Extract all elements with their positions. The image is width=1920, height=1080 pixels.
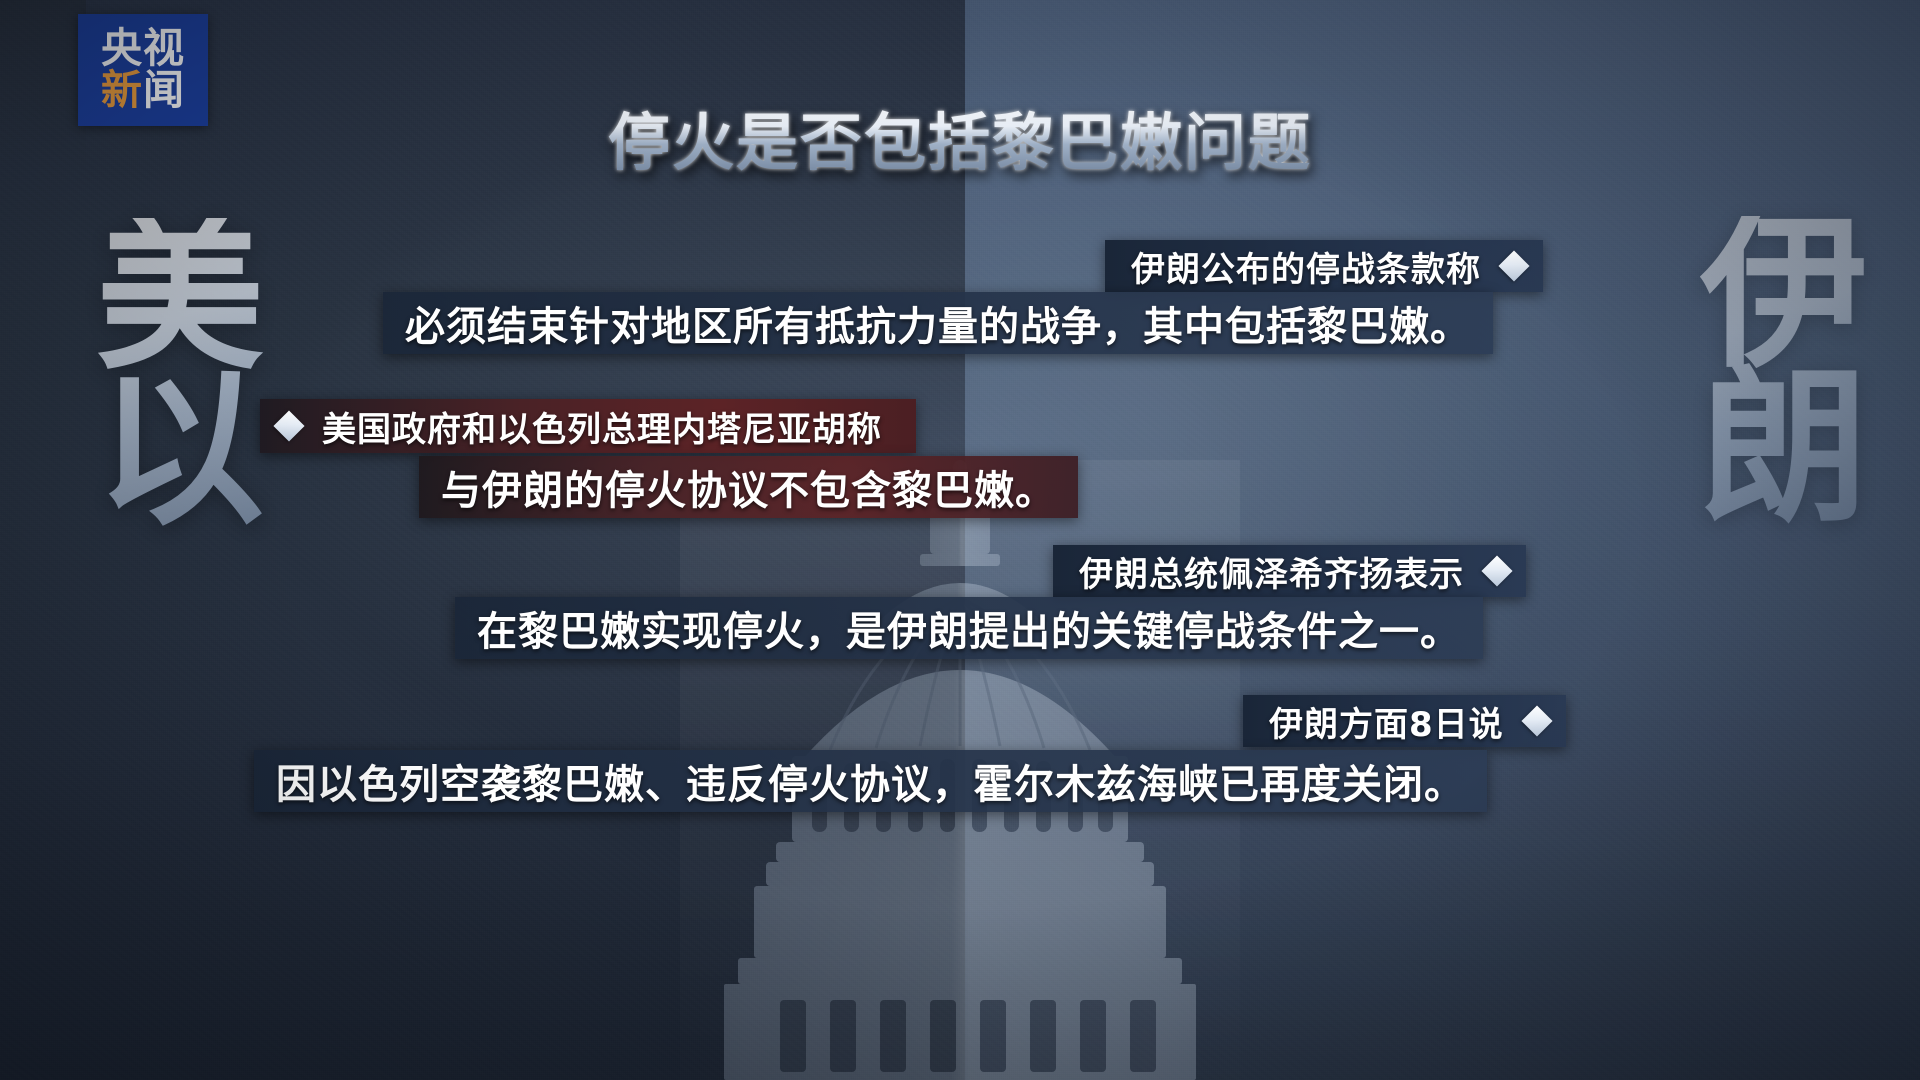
statement-text-block-1: 必须结束针对地区所有抵抗力量的战争，其中包括黎巴嫩。 <box>405 294 1471 352</box>
statement-block-4: 因以色列空袭黎巴嫩、违反停火协议，霍尔木兹海峡已再度关闭。 <box>254 750 1487 812</box>
source-label-block-1: 伊朗公布的停战条款称 <box>1105 240 1543 292</box>
logo-line-yangshi: 央视 <box>101 28 185 70</box>
source-text-block-3: 伊朗总统佩泽希齐扬表示 <box>1079 547 1464 596</box>
statement-text-block-4: 因以色列空袭黎巴嫩、违反停火协议，霍尔木兹海峡已再度关闭。 <box>276 752 1465 810</box>
diamond-bullet-icon <box>1498 250 1529 281</box>
source-text-block-2: 美国政府和以色列总理内塔尼亚胡称 <box>322 402 882 451</box>
source-label-block-4: 伊朗方面8日说 <box>1243 695 1566 747</box>
watermark-iran: 伊 朗 <box>1700 216 1868 525</box>
source-label-block-3: 伊朗总统佩泽希齐扬表示 <box>1053 545 1526 597</box>
statement-block-1: 必须结束针对地区所有抵抗力量的战争，其中包括黎巴嫩。 <box>383 292 1493 354</box>
watermark-us-israel: 美 以 <box>96 218 264 527</box>
news-graphic-stage: 央视 新闻 停火是否包括黎巴嫩问题 停火是否包括黎巴嫩问题 美 以 伊 朗 伊朗… <box>0 0 1920 1080</box>
diamond-bullet-icon <box>1481 555 1512 586</box>
diamond-bullet-icon <box>1521 705 1552 736</box>
watermark-char-mei: 美 <box>96 218 264 373</box>
source-text-block-4: 伊朗方面8日说 <box>1269 697 1504 746</box>
page-title: 停火是否包括黎巴嫩问题 <box>0 92 1920 182</box>
statement-block-3: 在黎巴嫩实现停火，是伊朗提出的关键停战条件之一。 <box>455 597 1483 659</box>
statement-text-block-3: 在黎巴嫩实现停火，是伊朗提出的关键停战条件之一。 <box>477 599 1461 657</box>
diamond-bullet-icon <box>273 410 304 441</box>
statement-block-2: 与伊朗的停火协议不包含黎巴嫩。 <box>419 456 1078 518</box>
source-text-block-1: 伊朗公布的停战条款称 <box>1131 242 1481 291</box>
watermark-char-yi2: 伊 <box>1700 216 1868 371</box>
watermark-char-yi: 以 <box>96 373 264 528</box>
source-label-block-2: 美国政府和以色列总理内塔尼亚胡称 <box>260 399 916 453</box>
statement-text-block-2: 与伊朗的停火协议不包含黎巴嫩。 <box>441 458 1056 516</box>
watermark-char-lang: 朗 <box>1700 371 1868 526</box>
